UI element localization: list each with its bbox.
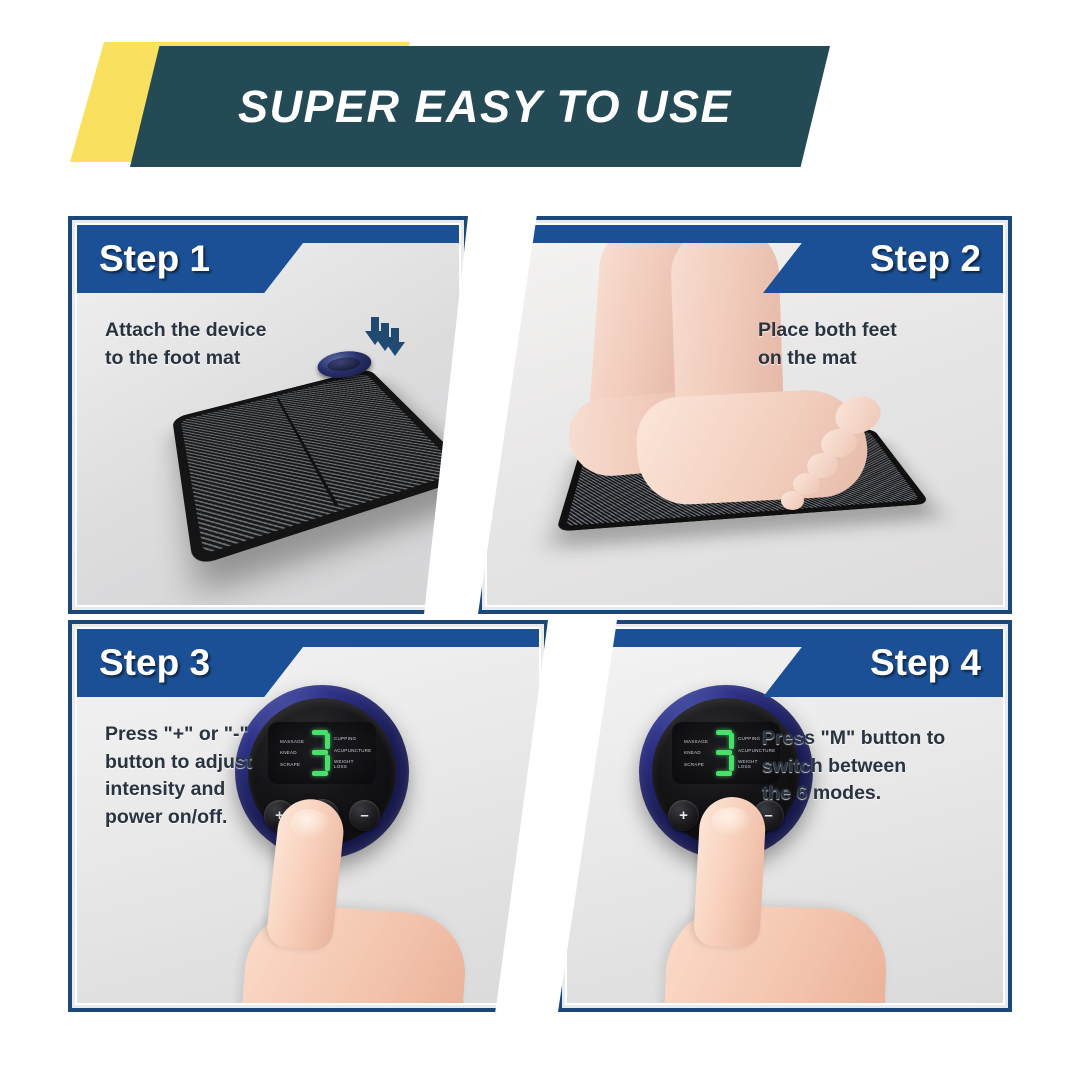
seg-top-right xyxy=(729,733,734,749)
step-label-2: Step 2 xyxy=(870,238,981,280)
step-panel-3-inner: MASSAGE KNEAD SCRAPE xyxy=(75,627,541,1005)
step-caption-1: Attach the device to the foot mat xyxy=(105,317,335,372)
display-label-knead: KNEAD xyxy=(684,750,701,755)
header-banner: SUPER EASY TO USE xyxy=(0,0,1080,185)
banner-teal-plate: SUPER EASY TO USE xyxy=(130,46,830,167)
display-label-cupping: CUPPING xyxy=(738,736,760,741)
step-panel-1-inner: Step 1 Attach the device to the foot mat xyxy=(75,223,461,607)
seg-bottom-right xyxy=(325,755,330,771)
foot-mat-body xyxy=(172,368,461,567)
minus-button[interactable]: – xyxy=(349,800,380,831)
steps-grid: Step 1 Attach the device to the foot mat xyxy=(0,200,1080,1030)
step-caption-4: Press "M" button to switch between the 6… xyxy=(762,725,977,808)
pointing-finger xyxy=(693,795,767,948)
down-arrows-group xyxy=(375,317,395,328)
seg-bottom xyxy=(716,771,732,776)
display-label-acupuncture: ACUPUNCTURE xyxy=(334,748,371,753)
seg-bottom-right xyxy=(729,755,734,771)
step-panel-3[interactable]: MASSAGE KNEAD SCRAPE xyxy=(68,620,548,1012)
step-panel-2-inner: Step 2 Place both feet on the mat xyxy=(485,223,1005,607)
step-panel-4-inner: MASSAGE KNEAD SCRAPE xyxy=(565,627,1005,1005)
plus-button[interactable]: + xyxy=(668,800,699,831)
display-label-massage: MASSAGE xyxy=(684,739,708,744)
toe xyxy=(781,491,804,510)
display-label-weight-loss: WEIGHT LOSS xyxy=(334,759,364,770)
display-label-scrape: SCRAPE xyxy=(684,762,704,767)
step-panel-1[interactable]: Step 1 Attach the device to the foot mat xyxy=(68,216,468,614)
step-label-3: Step 3 xyxy=(99,642,210,684)
banner-title: SUPER EASY TO USE xyxy=(228,81,732,133)
seg-top-right xyxy=(325,733,330,749)
step-label-1: Step 1 xyxy=(99,238,210,280)
step-caption-3: Press "+" or "-" button to adjust intens… xyxy=(105,721,320,832)
display-left-labels: MASSAGE KNEAD SCRAPE xyxy=(684,739,710,767)
foot-mat-surface xyxy=(181,373,461,554)
step-caption-2: Place both feet on the mat xyxy=(758,317,973,372)
step-label-4: Step 4 xyxy=(870,642,981,684)
display-digit-3 xyxy=(714,730,734,776)
display-label-cupping: CUPPING xyxy=(334,736,356,741)
display-right-labels: CUPPING ACUPUNCTURE WEIGHT LOSS xyxy=(334,736,364,769)
step-panel-2[interactable]: Step 2 Place both feet on the mat xyxy=(478,216,1012,614)
step-panel-4[interactable]: MASSAGE KNEAD SCRAPE xyxy=(558,620,1012,1012)
